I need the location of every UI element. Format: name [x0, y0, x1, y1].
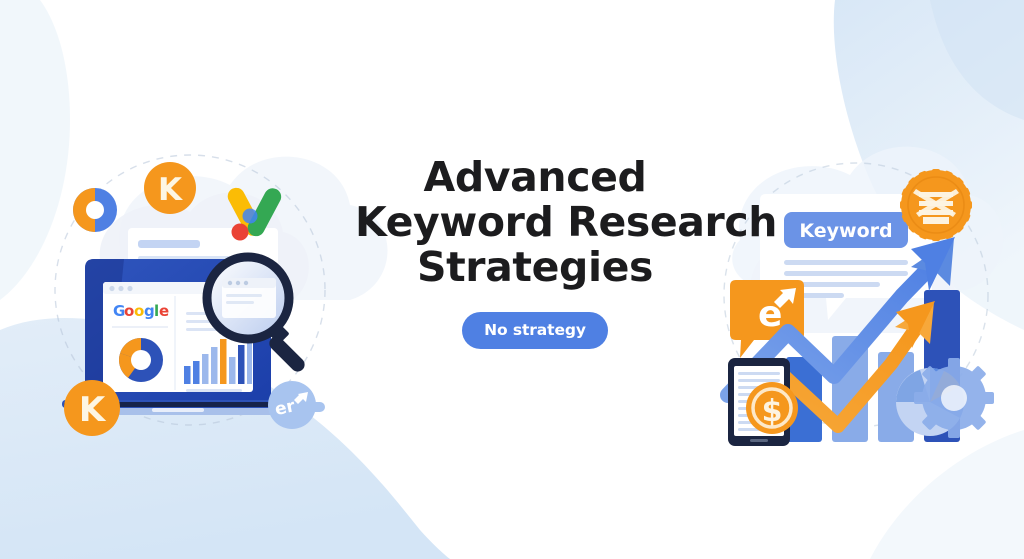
svg-text:e: e	[159, 302, 169, 320]
award-rosette-icon	[900, 169, 972, 241]
headline-line-2: Keyword Research	[355, 200, 715, 245]
mini-donut-chart	[73, 188, 117, 232]
headline-block: Advanced Keyword Research Strategies No …	[355, 155, 715, 349]
svg-text:o: o	[124, 302, 134, 320]
google-logo: G o o g l e	[113, 302, 169, 320]
headline-line-1: Advanced	[355, 155, 715, 200]
headline-line-3: Strategies	[355, 245, 715, 290]
page-title: Advanced Keyword Research Strategies	[355, 155, 715, 290]
right-illustration: Keyword	[706, 150, 1006, 450]
banner-canvas: G o o g l e	[0, 0, 1024, 559]
kw-badge-top: K	[144, 162, 196, 214]
svg-text:K: K	[79, 390, 107, 430]
svg-text:$: $	[762, 394, 783, 429]
screen-donut-chart	[119, 338, 163, 382]
dollar-coin-icon: $	[746, 382, 798, 434]
no-strategy-button[interactable]: No strategy	[462, 312, 608, 349]
left-illustration: G o o g l e	[40, 140, 350, 450]
kw-badge-bottom: K	[64, 380, 120, 436]
semrush-badge: er	[268, 381, 325, 429]
svg-text:o: o	[134, 302, 144, 320]
svg-text:K: K	[158, 172, 183, 208]
gear-icon	[914, 358, 994, 438]
svg-text:Keyword: Keyword	[799, 220, 892, 242]
cta-wrapper: No strategy	[355, 312, 715, 349]
